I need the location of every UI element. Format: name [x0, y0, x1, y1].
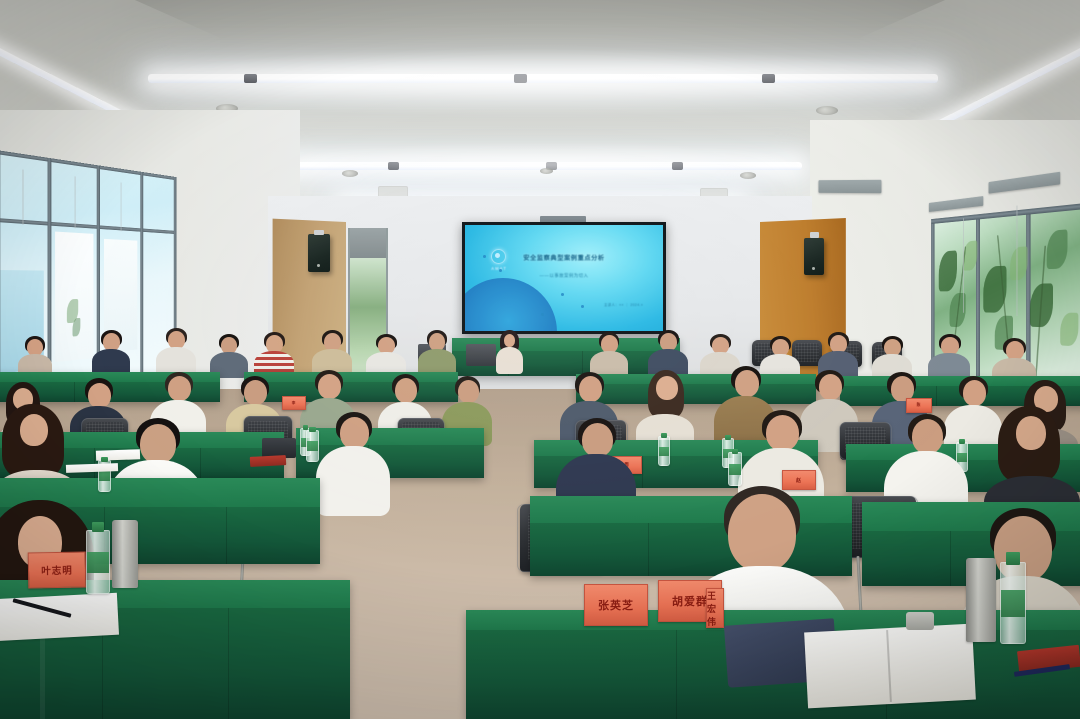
ceiling-speaker-icon	[816, 106, 838, 115]
attendee	[928, 334, 970, 382]
attendee	[156, 328, 196, 376]
water-bottle	[728, 452, 742, 486]
name-card: 王宏伟	[706, 588, 724, 628]
front-monitor	[466, 344, 496, 366]
water-bottle	[1000, 562, 1026, 644]
name-card-ye-zhiming: 叶志明	[28, 551, 87, 588]
conference-room-photo: AMAT 安全监察典型案例重点分析 ——以事故案例为切入 主讲人：×× ｜ 20…	[0, 0, 1080, 719]
water-bottle	[306, 430, 319, 462]
thermos	[966, 558, 996, 642]
slide-dot	[499, 269, 502, 272]
ceiling-speaker-icon	[740, 172, 756, 179]
window-blind-valance	[818, 180, 881, 193]
presenter	[494, 330, 524, 374]
speaker-bracket-right	[810, 232, 819, 238]
name-card-zhang-yingzhi: 张英芝	[584, 584, 648, 626]
slide-title: 安全监察典型案例重点分析	[465, 253, 663, 262]
water-bottle	[86, 530, 110, 594]
slide-surface: AMAT 安全监察典型案例重点分析 ——以事故案例为切入 主讲人：×× ｜ 20…	[465, 225, 663, 331]
name-card: 陈	[906, 398, 932, 413]
water-bottle	[658, 436, 670, 466]
attendee	[92, 330, 130, 376]
led-glow-2	[268, 142, 818, 188]
thermos	[112, 520, 138, 588]
projection-screen[interactable]: AMAT 安全监察典型案例重点分析 ——以事故案例为切入 主讲人：×× ｜ 20…	[462, 222, 666, 334]
cup	[906, 612, 934, 630]
attendee	[316, 412, 390, 516]
ceiling-speaker-icon	[342, 170, 358, 177]
red-notebook	[250, 455, 286, 467]
attendee	[418, 330, 456, 376]
ceiling-sprinkler-icon	[540, 168, 553, 174]
slide-dot	[561, 293, 564, 296]
slide-dot	[581, 305, 584, 308]
slide-dot	[541, 313, 544, 316]
speaker-bracket-left	[314, 230, 324, 235]
wall-speaker-right	[804, 238, 824, 275]
wall-speaker-left	[308, 234, 330, 272]
name-card: 李	[282, 396, 306, 410]
slide-footer: 主讲人：×× ｜ 2024.×	[604, 302, 643, 307]
slide-subtitle: ——以事故案例为切入	[465, 273, 663, 279]
slide-decor-arc	[465, 278, 557, 331]
